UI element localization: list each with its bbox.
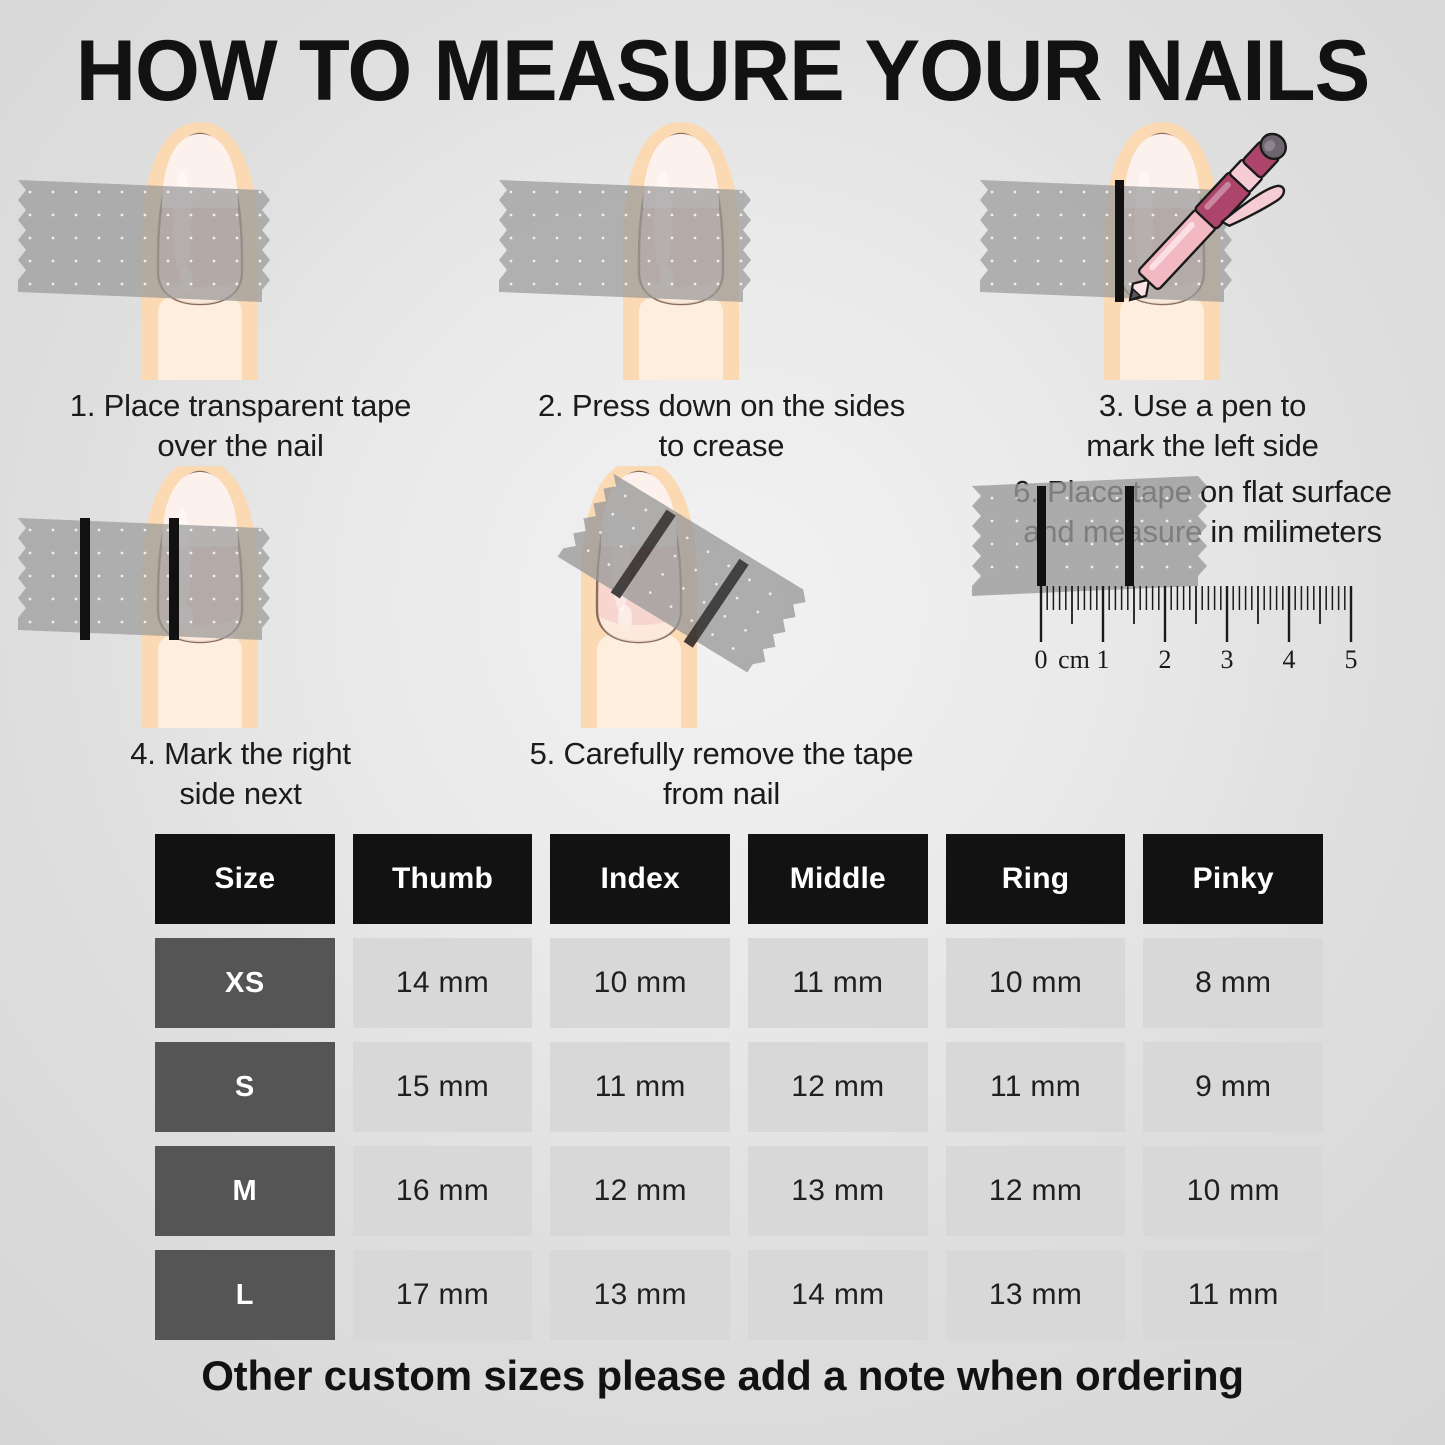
finger-tape-pen-icon	[962, 112, 1443, 380]
table-row: M 16 mm 12 mm 13 mm 12 mm 10 mm	[155, 1146, 1323, 1236]
step-1-line-1: 1. Place transparent tape	[0, 386, 481, 426]
cell-m-ring: 12 mm	[946, 1146, 1126, 1236]
ruler-tick-0: 0	[1035, 645, 1048, 674]
step-1-illustration	[0, 112, 481, 380]
cell-s-index: 11 mm	[550, 1042, 730, 1132]
finger-with-tape-icon	[0, 112, 481, 380]
steps-row-2: 4. Mark the right side next	[0, 466, 1445, 814]
cell-xs-middle: 11 mm	[748, 938, 928, 1028]
step-4-illustration	[0, 466, 481, 728]
ruler-labels: 0 cm 1 2 3 4 5	[1035, 645, 1358, 674]
step-1-caption: 1. Place transparent tape over the nail	[0, 380, 481, 466]
step-4: 4. Mark the right side next	[0, 466, 481, 814]
ruler-tick-4: 4	[1283, 645, 1296, 674]
footer-note: Other custom sizes please add a note whe…	[0, 1352, 1445, 1400]
tape-strip	[972, 476, 1207, 596]
table-row: XS 14 mm 10 mm 11 mm 10 mm 8 mm	[155, 938, 1323, 1028]
step-3: 3. Use a pen to mark the left side	[962, 112, 1443, 466]
cell-s-pinky: 9 mm	[1143, 1042, 1323, 1132]
cell-xs-thumb: 14 mm	[353, 938, 533, 1028]
cell-m-middle: 13 mm	[748, 1146, 928, 1236]
cell-m-index: 12 mm	[550, 1146, 730, 1236]
table-header-middle: Middle	[748, 834, 928, 924]
size-label-s: S	[155, 1042, 335, 1132]
ruler-tick-5: 5	[1345, 645, 1358, 674]
step-4-line-1: 4. Mark the right	[0, 734, 481, 774]
cell-xs-index: 10 mm	[550, 938, 730, 1028]
size-label-l: L	[155, 1250, 335, 1340]
tape-mark-left	[1115, 180, 1124, 302]
tape-mark-right	[169, 518, 179, 640]
cell-m-thumb: 16 mm	[353, 1146, 533, 1236]
step-4-caption: 4. Mark the right side next	[0, 728, 481, 814]
step-6: 0 cm 1 2 3 4 5 6. Place tape on flat sur…	[962, 466, 1443, 814]
step-6-illustration: 0 cm 1 2 3 4 5	[962, 466, 1443, 728]
table-header-thumb: Thumb	[353, 834, 533, 924]
cell-l-pinky: 11 mm	[1143, 1250, 1323, 1340]
ruler-tick-3: 3	[1221, 645, 1234, 674]
cell-l-thumb: 17 mm	[353, 1250, 533, 1340]
finger-tape-creased-icon	[481, 112, 962, 380]
finger-tape-two-marks-icon	[0, 466, 481, 728]
cell-m-pinky: 10 mm	[1143, 1146, 1323, 1236]
step-3-caption: 3. Use a pen to mark the left side	[962, 380, 1443, 466]
step-3-line-1: 3. Use a pen to	[962, 386, 1443, 426]
step-2-caption: 2. Press down on the sides to crease	[481, 380, 962, 466]
tape-mark-left	[80, 518, 90, 640]
step-4-line-2: side next	[0, 774, 481, 814]
step-1-line-2: over the nail	[0, 426, 481, 466]
table-header-ring: Ring	[946, 834, 1126, 924]
step-3-line-2: mark the left side	[962, 426, 1443, 466]
step-5-line-2: from nail	[481, 774, 962, 814]
tape-on-ruler-icon: 0 cm 1 2 3 4 5	[962, 466, 1443, 728]
cell-xs-pinky: 8 mm	[1143, 938, 1323, 1028]
cell-l-index: 13 mm	[550, 1250, 730, 1340]
ruler-tick-1: 1	[1097, 645, 1110, 674]
page-title: HOW TO MEASURE YOUR NAILS	[22, 22, 1424, 121]
ruler	[1041, 586, 1351, 642]
step-5: 5. Carefully remove the tape from nail	[481, 466, 962, 814]
step-2: 2. Press down on the sides to crease	[481, 112, 962, 466]
table-row: L 17 mm 13 mm 14 mm 13 mm 11 mm	[155, 1250, 1323, 1340]
tape-mark-right	[1125, 486, 1134, 586]
table-header-size: Size	[155, 834, 335, 924]
table-row: S 15 mm 11 mm 12 mm 11 mm 9 mm	[155, 1042, 1323, 1132]
steps-grid: 1. Place transparent tape over the nail	[0, 112, 1445, 814]
size-label-xs: XS	[155, 938, 335, 1028]
finger-tape-peeled-icon	[481, 466, 962, 728]
table-header-row: Size Thumb Index Middle Ring Pinky	[155, 834, 1323, 924]
step-1: 1. Place transparent tape over the nail	[0, 112, 481, 466]
cell-s-thumb: 15 mm	[353, 1042, 533, 1132]
steps-row-1: 1. Place transparent tape over the nail	[0, 112, 1445, 466]
step-2-line-1: 2. Press down on the sides	[481, 386, 962, 426]
size-table: Size Thumb Index Middle Ring Pinky XS 14…	[155, 834, 1323, 1354]
table-header-index: Index	[550, 834, 730, 924]
step-5-caption: 5. Carefully remove the tape from nail	[481, 728, 962, 814]
ruler-tick-2: 2	[1159, 645, 1172, 674]
step-5-line-1: 5. Carefully remove the tape	[481, 734, 962, 774]
cell-s-middle: 12 mm	[748, 1042, 928, 1132]
cell-s-ring: 11 mm	[946, 1042, 1126, 1132]
cell-xs-ring: 10 mm	[946, 938, 1126, 1028]
cell-l-ring: 13 mm	[946, 1250, 1126, 1340]
table-header-pinky: Pinky	[1143, 834, 1323, 924]
tape-mark-left	[1037, 486, 1046, 586]
step-2-line-2: to crease	[481, 426, 962, 466]
step-5-illustration	[481, 466, 962, 728]
step-3-illustration	[962, 112, 1443, 380]
size-label-m: M	[155, 1146, 335, 1236]
cell-l-middle: 14 mm	[748, 1250, 928, 1340]
ruler-unit-label: cm	[1058, 645, 1090, 674]
step-2-illustration	[481, 112, 962, 380]
